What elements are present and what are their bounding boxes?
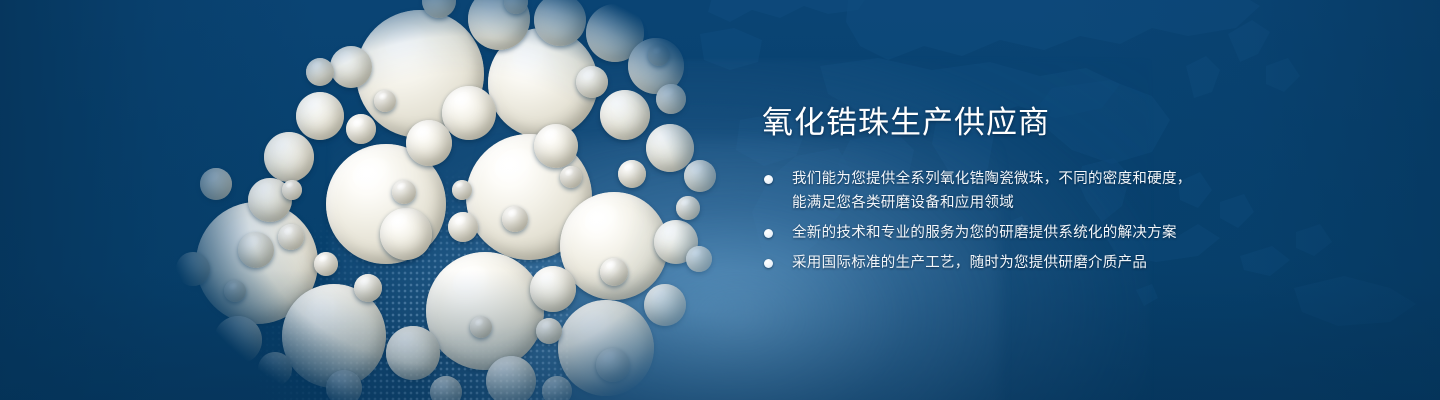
- bottom-shade: [0, 270, 1440, 400]
- bullet-dot-icon: [764, 229, 773, 238]
- list-item: 采用国际标准的生产工艺，随时为您提供研磨介质产品: [762, 251, 1322, 275]
- hero-banner: 氧化锆珠生产供应商 我们能为您提供全系列氧化锆陶瓷微珠，不同的密度和硬度， 能满…: [0, 0, 1440, 400]
- list-item: 全新的技术和专业的服务为您的研磨提供系统化的解决方案: [762, 221, 1322, 245]
- bullet-dot-icon: [764, 259, 773, 268]
- banner-copy: 氧化锆珠生产供应商 我们能为您提供全系列氧化锆陶瓷微珠，不同的密度和硬度， 能满…: [762, 104, 1322, 275]
- bullet-text-line1: 我们能为您提供全系列氧化锆陶瓷微珠，不同的密度和硬度，: [792, 171, 1192, 187]
- bullet-text-line1: 采用国际标准的生产工艺，随时为您提供研磨介质产品: [792, 255, 1147, 271]
- benefit-list: 我们能为您提供全系列氧化锆陶瓷微珠，不同的密度和硬度， 能满足您各类研磨设备和应…: [762, 167, 1322, 275]
- bullet-text-line1: 全新的技术和专业的服务为您的研磨提供系统化的解决方案: [792, 225, 1177, 241]
- bullet-dot-icon: [764, 175, 773, 184]
- list-item: 我们能为您提供全系列氧化锆陶瓷微珠，不同的密度和硬度， 能满足您各类研磨设备和应…: [762, 167, 1322, 215]
- banner-headline: 氧化锆珠生产供应商: [762, 104, 1322, 143]
- bullet-text-line2: 能满足您各类研磨设备和应用领域: [792, 191, 1322, 215]
